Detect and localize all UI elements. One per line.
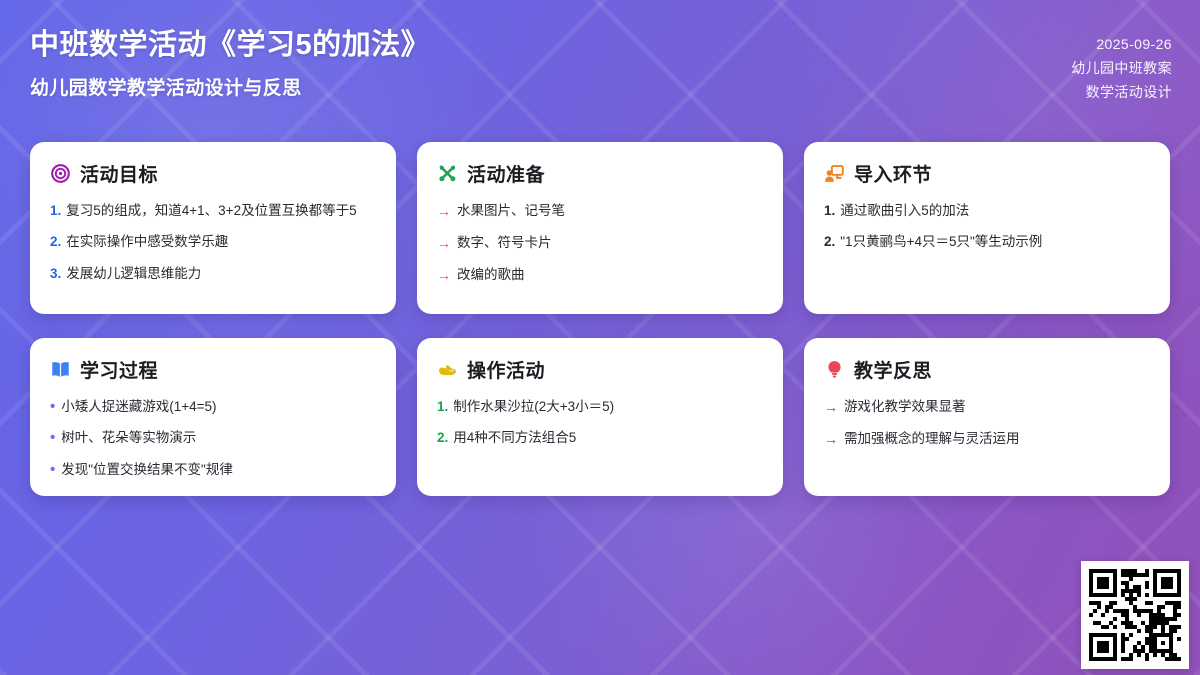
list-item-text: 改编的歌曲 [457, 265, 763, 285]
list-item-text: 游戏化教学效果显著 [844, 397, 1150, 417]
list-item-text: 在实际操作中感受数学乐趣 [66, 232, 376, 252]
list-item-marker: 2. [437, 428, 448, 448]
list-item-marker: 1. [437, 397, 448, 417]
list-item-text: 水果图片、记号笔 [457, 201, 763, 221]
header-meta-category: 幼儿园中班教案 [1071, 56, 1172, 80]
list-item: 1.制作水果沙拉(2大+3小＝5) [437, 397, 763, 417]
lightbulb-icon [824, 359, 845, 380]
pointing-hand-icon [437, 359, 458, 380]
card-activity-goals: 活动目标1.复习5的组成，知道4+1、3+2及位置互换都等于52.在实际操作中感… [30, 142, 396, 314]
card-title: 学习过程 [80, 356, 158, 383]
card-item-list: →游戏化教学效果显著→需加强概念的理解与灵活运用 [824, 397, 1150, 450]
list-item: →水果图片、记号笔 [437, 201, 763, 222]
list-item: →需加强概念的理解与灵活运用 [824, 429, 1150, 450]
page-title: 中班数学活动《学习5的加法》 [30, 26, 430, 64]
target-icon [50, 163, 71, 184]
list-item-marker: • [50, 397, 55, 417]
card-title: 活动目标 [80, 160, 158, 187]
list-item-marker: → [437, 265, 451, 286]
card-item-list: 1.制作水果沙拉(2大+3小＝5)2.用4种不同方法组合5 [437, 397, 763, 449]
qr-code-image [1089, 569, 1181, 661]
list-item-text: 发展幼儿逻辑思维能力 [66, 264, 376, 284]
list-item-marker: • [50, 428, 55, 448]
presentation-icon [824, 163, 845, 184]
card-item-list: →水果图片、记号笔→数字、符号卡片→改编的歌曲 [437, 201, 763, 286]
card-item-list: •小矮人捉迷藏游戏(1+4=5)•树叶、花朵等实物演示•发现"位置交换结果不变"… [50, 397, 376, 480]
list-item: 2.在实际操作中感受数学乐趣 [50, 232, 376, 252]
list-item-marker: → [437, 201, 451, 222]
qr-code[interactable] [1081, 561, 1189, 669]
list-item: 1.通过歌曲引入5的加法 [824, 201, 1150, 221]
card-header: 学习过程 [50, 356, 376, 383]
card-hands-on-activity: 操作活动1.制作水果沙拉(2大+3小＝5)2.用4种不同方法组合5 [417, 338, 783, 496]
header-title-block: 中班数学活动《学习5的加法》 幼儿园数学教学活动设计与反思 [30, 26, 430, 100]
list-item: 3.发展幼儿逻辑思维能力 [50, 264, 376, 284]
list-item-marker: → [824, 429, 838, 450]
list-item-marker: 3. [50, 264, 61, 284]
list-item-text: 发现"位置交换结果不变"规律 [61, 460, 376, 480]
list-item: 2."1只黄鹂鸟+4只＝5只"等生动示例 [824, 232, 1150, 252]
list-item-marker: 1. [50, 201, 61, 221]
list-item-marker: 2. [50, 232, 61, 252]
list-item-text: 小矮人捉迷藏游戏(1+4=5) [61, 397, 376, 417]
list-item: •树叶、花朵等实物演示 [50, 428, 376, 448]
crossed-tools-icon [437, 163, 458, 184]
card-grid: 活动目标1.复习5的组成，知道4+1、3+2及位置互换都等于52.在实际操作中感… [30, 142, 1170, 496]
card-header: 活动目标 [50, 160, 376, 187]
list-item-text: 数字、符号卡片 [457, 233, 763, 253]
list-item-text: 制作水果沙拉(2大+3小＝5) [453, 397, 763, 417]
list-item-text: 通过歌曲引入5的加法 [840, 201, 1150, 221]
card-header: 操作活动 [437, 356, 763, 383]
card-title: 活动准备 [467, 160, 545, 187]
list-item: •小矮人捉迷藏游戏(1+4=5) [50, 397, 376, 417]
page-header: 中班数学活动《学习5的加法》 幼儿园数学教学活动设计与反思 2025-09-26… [0, 0, 1200, 130]
page-subtitle: 幼儿园数学教学活动设计与反思 [30, 73, 430, 100]
card-item-list: 1.通过歌曲引入5的加法2."1只黄鹂鸟+4只＝5只"等生动示例 [824, 201, 1150, 253]
list-item: 1.复习5的组成，知道4+1、3+2及位置互换都等于5 [50, 201, 376, 221]
header-meta-block: 2025-09-26 幼儿园中班教案 数学活动设计 [1071, 26, 1172, 104]
list-item-marker: • [50, 460, 55, 480]
card-header: 教学反思 [824, 356, 1150, 383]
list-item: 2.用4种不同方法组合5 [437, 428, 763, 448]
card-title: 导入环节 [854, 160, 932, 187]
card-teaching-reflection: 教学反思→游戏化教学效果显著→需加强概念的理解与灵活运用 [804, 338, 1170, 496]
list-item: →数字、符号卡片 [437, 233, 763, 254]
list-item: →改编的歌曲 [437, 265, 763, 286]
list-item-text: 需加强概念的理解与灵活运用 [844, 429, 1150, 449]
card-title: 操作活动 [467, 356, 545, 383]
card-activity-preparation: 活动准备→水果图片、记号笔→数字、符号卡片→改编的歌曲 [417, 142, 783, 314]
list-item-text: 树叶、花朵等实物演示 [61, 428, 376, 448]
list-item-text: "1只黄鹂鸟+4只＝5只"等生动示例 [840, 232, 1150, 252]
list-item-text: 用4种不同方法组合5 [453, 428, 763, 448]
list-item-marker: 2. [824, 232, 835, 252]
list-item-marker: → [824, 397, 838, 418]
card-header: 导入环节 [824, 160, 1150, 187]
card-introduction-phase: 导入环节1.通过歌曲引入5的加法2."1只黄鹂鸟+4只＝5只"等生动示例 [804, 142, 1170, 314]
list-item-marker: 1. [824, 201, 835, 221]
card-title: 教学反思 [854, 356, 932, 383]
list-item-marker: → [437, 233, 451, 254]
list-item: →游戏化教学效果显著 [824, 397, 1150, 418]
list-item-text: 复习5的组成，知道4+1、3+2及位置互换都等于5 [66, 201, 376, 221]
card-learning-process: 学习过程•小矮人捉迷藏游戏(1+4=5)•树叶、花朵等实物演示•发现"位置交换结… [30, 338, 396, 496]
open-book-icon [50, 359, 71, 380]
header-meta-subject: 数学活动设计 [1086, 80, 1172, 104]
card-item-list: 1.复习5的组成，知道4+1、3+2及位置互换都等于52.在实际操作中感受数学乐… [50, 201, 376, 284]
list-item: •发现"位置交换结果不变"规律 [50, 460, 376, 480]
header-date: 2025-09-26 [1096, 32, 1172, 56]
card-header: 活动准备 [437, 160, 763, 187]
